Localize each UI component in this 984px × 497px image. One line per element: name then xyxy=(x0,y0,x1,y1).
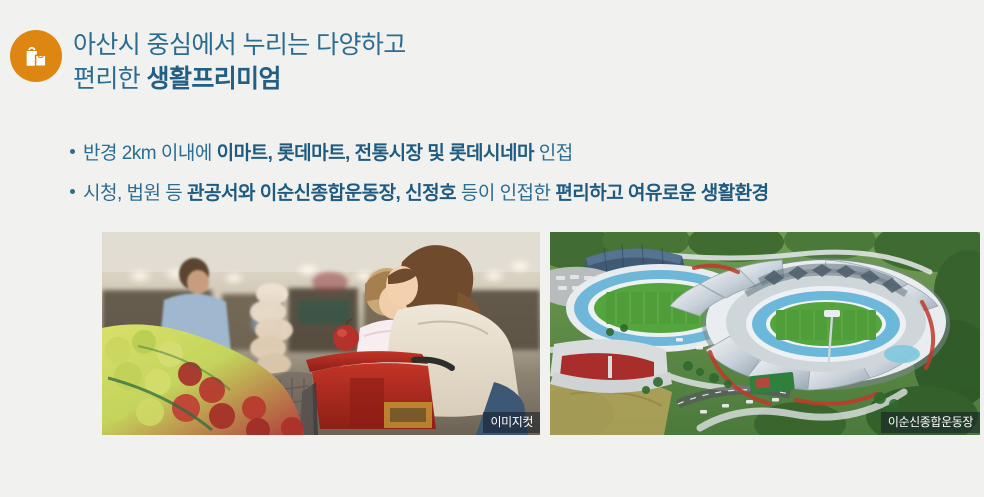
photo-caption: 이미지컷 xyxy=(483,412,540,433)
page-title-line2-strong: 생활프리미엄 xyxy=(147,65,281,93)
supermarket-family-photo: 이미지컷 xyxy=(102,232,540,435)
photo-caption: 이순신종합운동장 xyxy=(881,412,980,433)
page-title: 아산시 중심에서 누리는 다양하고 편리한 생활프리미엄 xyxy=(73,28,406,96)
bullet-2-part2: 등이 인접한 xyxy=(456,183,555,204)
page-title-line1: 아산시 중심에서 누리는 다양하고 xyxy=(73,28,406,62)
list-item: 반경 2km 이내에 이마트, 롯데마트, 전통시장 및 롯데시네마 인접 xyxy=(70,134,980,174)
bullet-2-part1: 시청, 법원 등 xyxy=(83,183,187,204)
bullet-1-strong1: 이마트, 롯데마트, 전통시장 및 롯데시네마 xyxy=(217,143,534,164)
bullet-dot-icon xyxy=(70,149,75,154)
feature-list: 반경 2km 이내에 이마트, 롯데마트, 전통시장 및 롯데시네마 인접 시청… xyxy=(70,134,980,214)
shopping-bags-icon xyxy=(10,30,62,82)
photo-gallery: 이미지컷 xyxy=(102,232,980,435)
bullet-2-strong2: 편리하고 여유로운 생활환경 xyxy=(555,183,768,204)
stadium-aerial-photo: 이순신종합운동장 xyxy=(550,232,980,435)
bullet-2-strong1: 관공서와 이순신종합운동장, 신정호 xyxy=(187,183,456,204)
list-item-text: 반경 2km 이내에 이마트, 롯데마트, 전통시장 및 롯데시네마 인접 xyxy=(83,134,573,174)
page-title-line2-normal: 편리한 xyxy=(73,65,147,93)
list-item-text: 시청, 법원 등 관공서와 이순신종합운동장, 신정호 등이 인접한 편리하고 … xyxy=(83,174,769,214)
header: 아산시 중심에서 누리는 다양하고 편리한 생활프리미엄 xyxy=(8,28,968,96)
bullet-1-part2: 인접 xyxy=(534,143,573,164)
list-item: 시청, 법원 등 관공서와 이순신종합운동장, 신정호 등이 인접한 편리하고 … xyxy=(70,174,980,214)
slide-root: 아산시 중심에서 누리는 다양하고 편리한 생활프리미엄 반경 2km 이내에 … xyxy=(0,0,984,497)
bullet-dot-icon xyxy=(70,189,75,194)
bullet-1-part1: 반경 2km 이내에 xyxy=(83,143,217,164)
page-title-line2: 편리한 생활프리미엄 xyxy=(73,62,406,96)
